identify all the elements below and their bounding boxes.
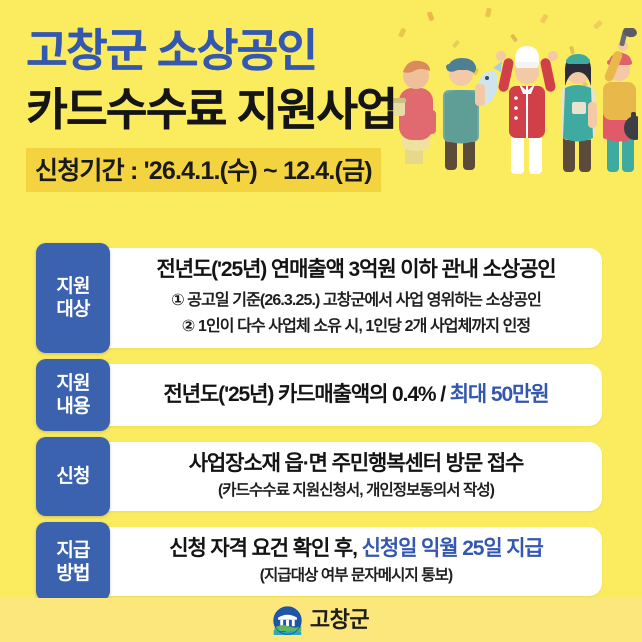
- application-period-wrap: 신청기간 : '26.4.1.(수) ~ 12.4.(금): [26, 148, 381, 192]
- card-tab-line2: 방법: [56, 562, 89, 585]
- card-main-highlight: 신청일 익월 25일 지급: [362, 537, 543, 560]
- info-card-payment-method: 지급 방법 신청 자격 요건 확인 후, 신청일 익월 25일 지급 (지급대상…: [42, 527, 602, 596]
- application-period-badge: 신청기간 : '26.4.1.(수) ~ 12.4.(금): [26, 148, 381, 192]
- card-tab-payment-method: 지급 방법: [36, 522, 110, 601]
- card-tab-support-detail: 지원 내용: [36, 359, 110, 431]
- poster-header: 고창군 소상공인 카드수수료 지원사업 신청기간 : '26.4.1.(수) ~…: [0, 0, 642, 192]
- poster-root: 고창군 소상공인 카드수수료 지원사업 신청기간 : '26.4.1.(수) ~…: [0, 0, 642, 642]
- card-tab-line2: 대상: [56, 298, 89, 321]
- card-main-text: 신청 자격 요건 확인 후,: [169, 537, 361, 560]
- card-tab-line1: 신청: [56, 465, 89, 488]
- info-card-support-detail: 지원 내용 전년도('25년) 카드매출액의 0.4% / 최대 50만원: [42, 364, 602, 426]
- card-body-application: 사업장소재 읍·면 주민행복센터 방문 접수 (카드수수료 지원신청서, 개인정…: [110, 442, 602, 511]
- card-sub-line: (지급대상 여부 문자메시지 통보): [260, 565, 452, 587]
- card-main-text: 전년도('25년) 카드매출액의 0.4% /: [164, 383, 450, 406]
- info-card-list: 지원 대상 전년도('25년) 연매출액 3억원 이하 관내 소상공인 ① 공고…: [42, 248, 602, 612]
- card-sub-line: (카드수수료 지원신청서, 개인정보동의서 작성): [218, 480, 494, 502]
- info-card-application: 신청 사업장소재 읍·면 주민행복센터 방문 접수 (카드수수료 지원신청서, …: [42, 442, 602, 511]
- card-tab-line1: 지급: [56, 539, 89, 562]
- card-body-support-target: 전년도('25년) 연매출액 3억원 이하 관내 소상공인 ① 공고일 기준(2…: [110, 248, 602, 348]
- page-title-line1: 고창군 소상공인: [26, 26, 642, 76]
- card-tab-support-target: 지원 대상: [36, 243, 110, 353]
- card-main-highlight: 최대 50만원: [450, 383, 549, 406]
- card-main-text: 전년도('25년) 연매출액 3억원 이하 관내 소상공인: [156, 256, 555, 283]
- card-main-text: 사업장소재 읍·면 주민행복센터 방문 접수: [189, 450, 524, 477]
- page-title-line2: 카드수수료 지원사업: [26, 85, 642, 135]
- footer-logo-text: 고창군: [310, 609, 369, 631]
- card-sub-line: ② 1인이 다수 사업체 소유 시, 1인당 2개 사업체까지 인정: [171, 316, 541, 339]
- card-tab-line1: 지원: [56, 372, 89, 395]
- info-card-support-target: 지원 대상 전년도('25년) 연매출액 3억원 이하 관내 소상공인 ① 공고…: [42, 248, 602, 348]
- card-tab-application: 신청: [36, 437, 110, 516]
- card-main-text-wrap: 전년도('25년) 카드매출액의 0.4% / 최대 50만원: [164, 381, 549, 408]
- poster-footer: 고창군: [0, 598, 642, 642]
- card-tab-line2: 내용: [56, 395, 89, 418]
- card-body-support-detail: 전년도('25년) 카드매출액의 0.4% / 최대 50만원: [110, 364, 602, 426]
- card-tab-line1: 지원: [56, 275, 89, 298]
- card-sub-list: ① 공고일 기준(26.3.25.) 고창군에서 사업 영위하는 소상공인 ② …: [171, 287, 541, 338]
- card-main-text-wrap: 신청 자격 요건 확인 후, 신청일 익월 25일 지급: [169, 535, 543, 562]
- card-body-payment-method: 신청 자격 요건 확인 후, 신청일 익월 25일 지급 (지급대상 여부 문자…: [110, 527, 602, 596]
- card-sub-line: ① 공고일 기준(26.3.25.) 고창군에서 사업 영위하는 소상공인: [171, 290, 541, 313]
- gochang-dolmen-emblem-icon: [273, 606, 302, 635]
